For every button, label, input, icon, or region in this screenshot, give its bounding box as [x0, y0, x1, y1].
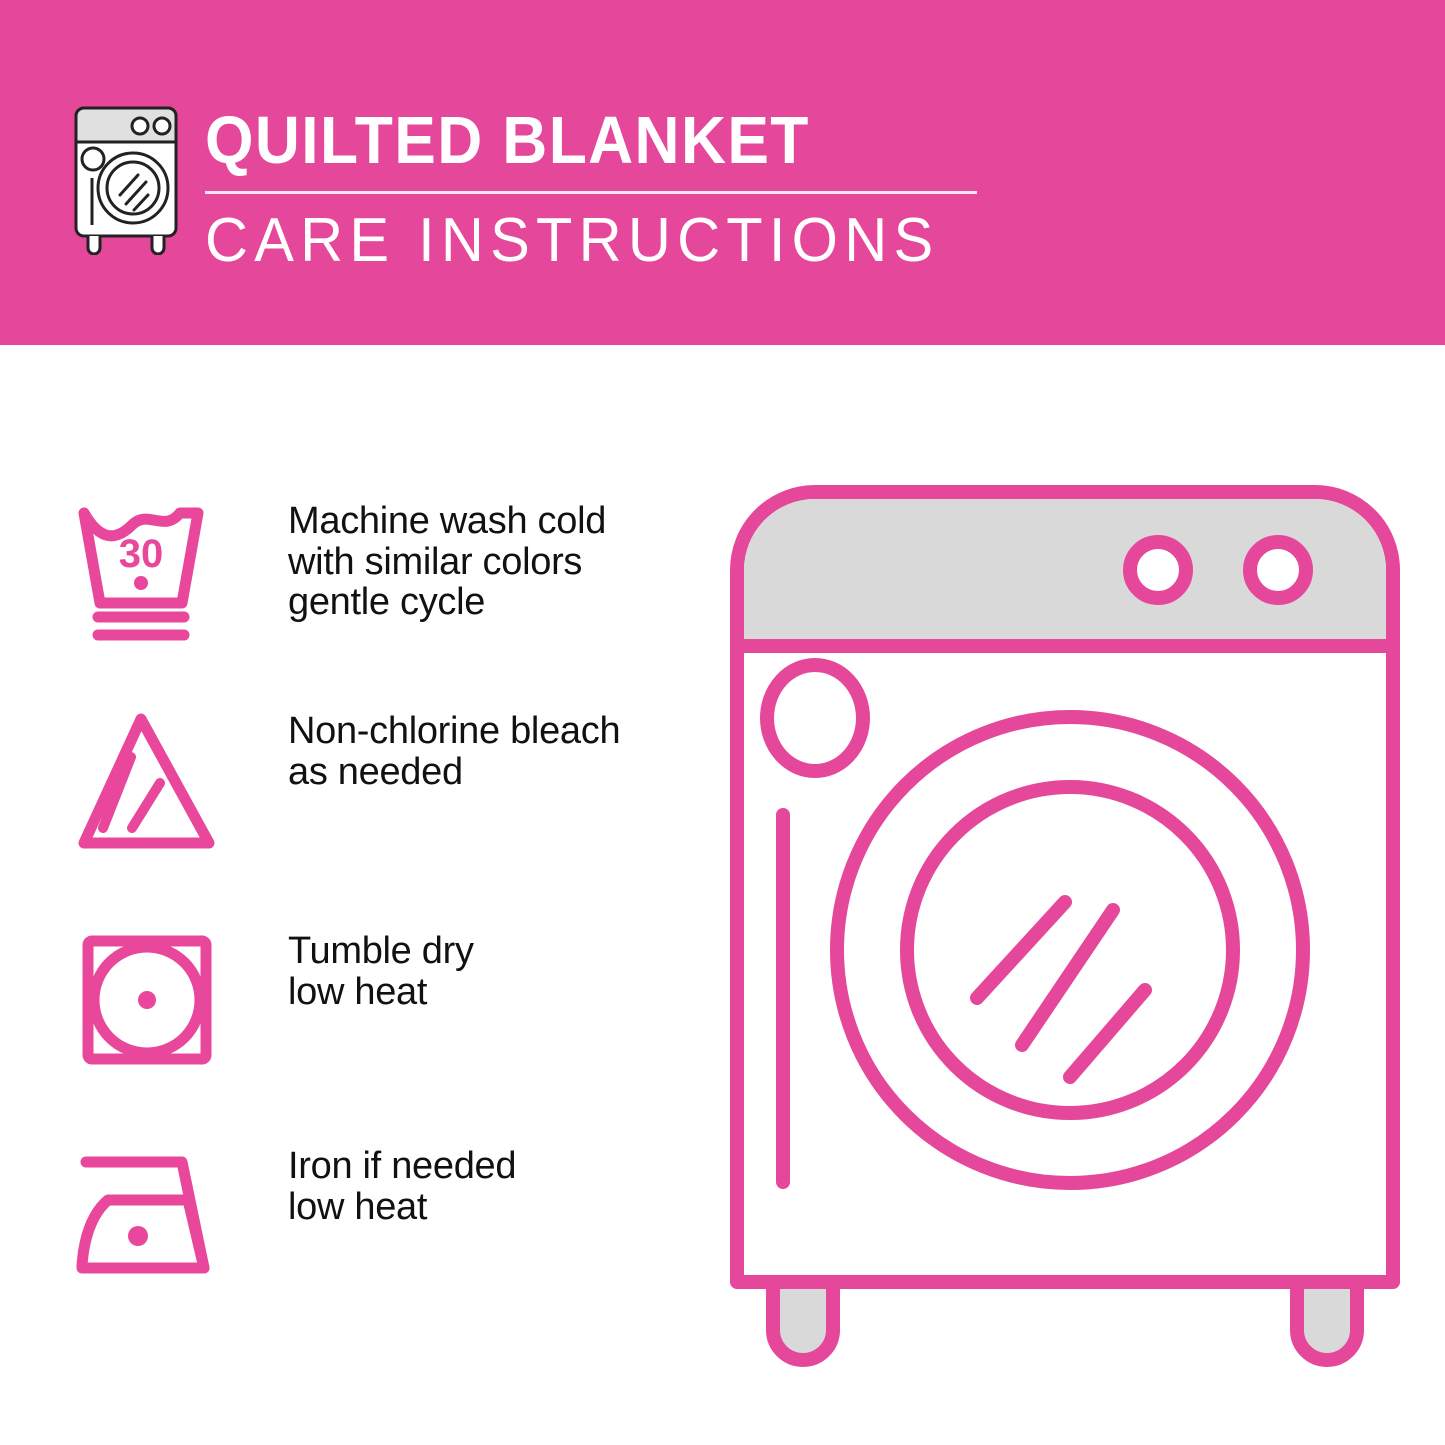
machine-knob-left	[1130, 542, 1186, 598]
iron-low-heat-icon	[70, 1140, 230, 1295]
header-banner: QUILTED BLANKET CARE INSTRUCTIONS	[0, 0, 1445, 345]
page-title: QUILTED BLANKET	[205, 102, 949, 180]
care-text-iron: Iron if needed low heat	[230, 1140, 516, 1227]
wash-tub-30-gentle-icon: 30	[70, 495, 230, 650]
care-instructions-infographic: QUILTED BLANKET CARE INSTRUCTIONS 30	[0, 0, 1445, 1445]
machine-foot-left	[773, 1282, 833, 1360]
care-row-tumble-dry: Tumble dry low heat	[70, 925, 690, 1080]
machine-foot-right	[1297, 1282, 1357, 1360]
care-row-wash: 30 Machine wash cold with similar colors…	[70, 495, 690, 650]
care-row-bleach: Non-chlorine bleach as needed	[70, 705, 690, 860]
wash-temperature-label: 30	[119, 532, 164, 576]
washing-machine-illustration	[715, 470, 1415, 1370]
header-text-block: QUILTED BLANKET CARE INSTRUCTIONS	[205, 102, 1005, 277]
non-chlorine-bleach-triangle-icon	[70, 705, 230, 860]
care-text-tumble-dry: Tumble dry low heat	[230, 925, 474, 1012]
care-instruction-list: 30 Machine wash cold with similar colors…	[0, 345, 700, 1445]
machine-indicator-circle	[767, 665, 863, 771]
care-text-wash: Machine wash cold with similar colors ge…	[230, 495, 606, 623]
machine-knob-right	[1250, 542, 1306, 598]
title-divider	[205, 191, 977, 194]
care-text-bleach: Non-chlorine bleach as needed	[230, 705, 620, 792]
care-row-iron: Iron if needed low heat	[70, 1140, 690, 1295]
washing-machine-icon	[62, 100, 190, 255]
tumble-dry-low-icon	[70, 925, 230, 1080]
page-subtitle: CARE INSTRUCTIONS	[205, 205, 973, 277]
machine-door-inner	[907, 787, 1233, 1113]
